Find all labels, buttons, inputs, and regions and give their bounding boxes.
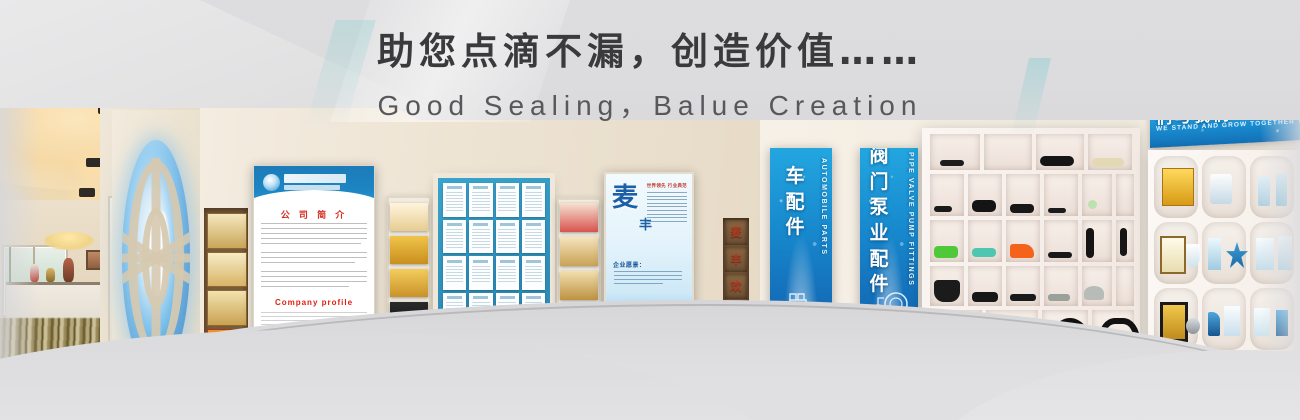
rubber-product — [1048, 294, 1070, 301]
shelf-cell — [1116, 266, 1134, 306]
rubber-product-orange — [1010, 244, 1034, 258]
gold-certificate — [1162, 168, 1194, 206]
vision-body-text — [614, 271, 682, 287]
poster-wave-divider — [253, 190, 375, 208]
rubber-product — [1092, 158, 1124, 167]
framed-certificate — [1160, 236, 1186, 274]
rubber-product-teal — [972, 248, 996, 257]
rubber-product — [1040, 156, 1074, 166]
vision-bullet-list — [647, 192, 687, 224]
certificate — [496, 220, 519, 254]
certificate — [443, 220, 466, 254]
rubber-product — [940, 160, 964, 166]
certificate — [469, 183, 492, 217]
poster-title-en: Company profile — [254, 298, 374, 307]
award-certificate — [390, 203, 429, 231]
award-certificate — [390, 269, 429, 297]
award-plaque — [207, 213, 248, 249]
rubber-product-green — [934, 246, 958, 258]
rubber-product — [1086, 228, 1094, 258]
welcome-char-box: 欢 — [725, 274, 747, 299]
banner-char: 泵 — [869, 196, 888, 218]
rubber-product — [1120, 228, 1127, 256]
banner-char: 阀 — [869, 148, 888, 167]
rubber-product — [1048, 252, 1072, 258]
certificate — [469, 220, 492, 254]
shelf-cell — [1082, 174, 1112, 216]
crystal-trophy — [1224, 306, 1240, 336]
vision-headline: 世界领先 行业典范 — [647, 183, 687, 189]
rubber-product — [1088, 200, 1097, 209]
rubber-product — [972, 292, 998, 302]
crystal-trophy — [1208, 238, 1221, 270]
glass-trophy — [1210, 174, 1232, 204]
certificate — [496, 183, 519, 217]
certificate — [496, 256, 519, 290]
banner-char: 配 — [785, 191, 804, 213]
globe-inner-ring — [142, 208, 170, 308]
certificate — [522, 256, 545, 290]
award-plaque — [207, 290, 248, 326]
rubber-product — [934, 206, 952, 212]
banner-char: 业 — [869, 222, 888, 244]
award-certificate — [560, 203, 599, 232]
certificate — [522, 220, 545, 254]
banner-char: 配 — [869, 248, 888, 270]
rubber-product — [972, 200, 996, 212]
company-logo-wordmark — [284, 174, 346, 183]
award-certificate — [560, 271, 599, 300]
banner-char: 件 — [785, 216, 804, 238]
showroom-hero-banner: 公 司 简 介 Company profile — [0, 0, 1300, 420]
award-certificate — [390, 236, 429, 264]
shelf-cell — [1116, 174, 1134, 216]
poster-title-cn: 公 司 简 介 — [254, 208, 374, 221]
rubber-product-cylinder — [934, 280, 960, 302]
ceiling-spotlight — [79, 188, 95, 197]
page-subtitle: Good Sealing，Balue Creation — [0, 84, 1300, 124]
decor-statue — [63, 258, 74, 282]
rubber-product — [1084, 286, 1104, 300]
banner-label-cn: 阀 门 泵 业 配 件 — [866, 148, 892, 298]
blue-crystal-trophy — [1208, 312, 1220, 336]
vision-section-title: 企业愿景： — [613, 260, 646, 269]
award-certificate — [560, 237, 599, 266]
banner-char: 门 — [869, 171, 888, 193]
rubber-product — [1010, 294, 1036, 301]
rubber-product — [1048, 208, 1066, 213]
certificate — [469, 256, 492, 290]
welcome-char-box: 麦 — [725, 220, 747, 245]
black-gold-plaque — [1160, 302, 1188, 342]
rubber-product — [1010, 204, 1034, 213]
glass-award-cup — [1186, 244, 1200, 268]
banner-label-cn: 车 配 件 — [782, 164, 808, 241]
certificate — [443, 183, 466, 217]
shelf-cell — [984, 134, 1032, 170]
certificate — [522, 183, 545, 217]
decor-vase — [46, 268, 55, 282]
brand-char-mai: 麦 — [612, 186, 638, 211]
banner-char: 车 — [785, 165, 804, 187]
certificate — [443, 256, 466, 290]
award-plaque — [207, 252, 248, 288]
banner-label-en: PIPE VALVE PUMP FITTINGS — [907, 152, 914, 286]
chandelier — [44, 232, 94, 250]
page-title: 助您点滴不漏，创造价值…… — [0, 32, 1300, 73]
medal-disc — [1186, 318, 1200, 334]
company-logo-subtext — [284, 185, 340, 190]
banner-label-en: AUTOMOBILE PARTS — [820, 158, 827, 256]
welcome-char-box: 丰 — [725, 247, 747, 272]
company-logo-icon — [263, 174, 280, 191]
